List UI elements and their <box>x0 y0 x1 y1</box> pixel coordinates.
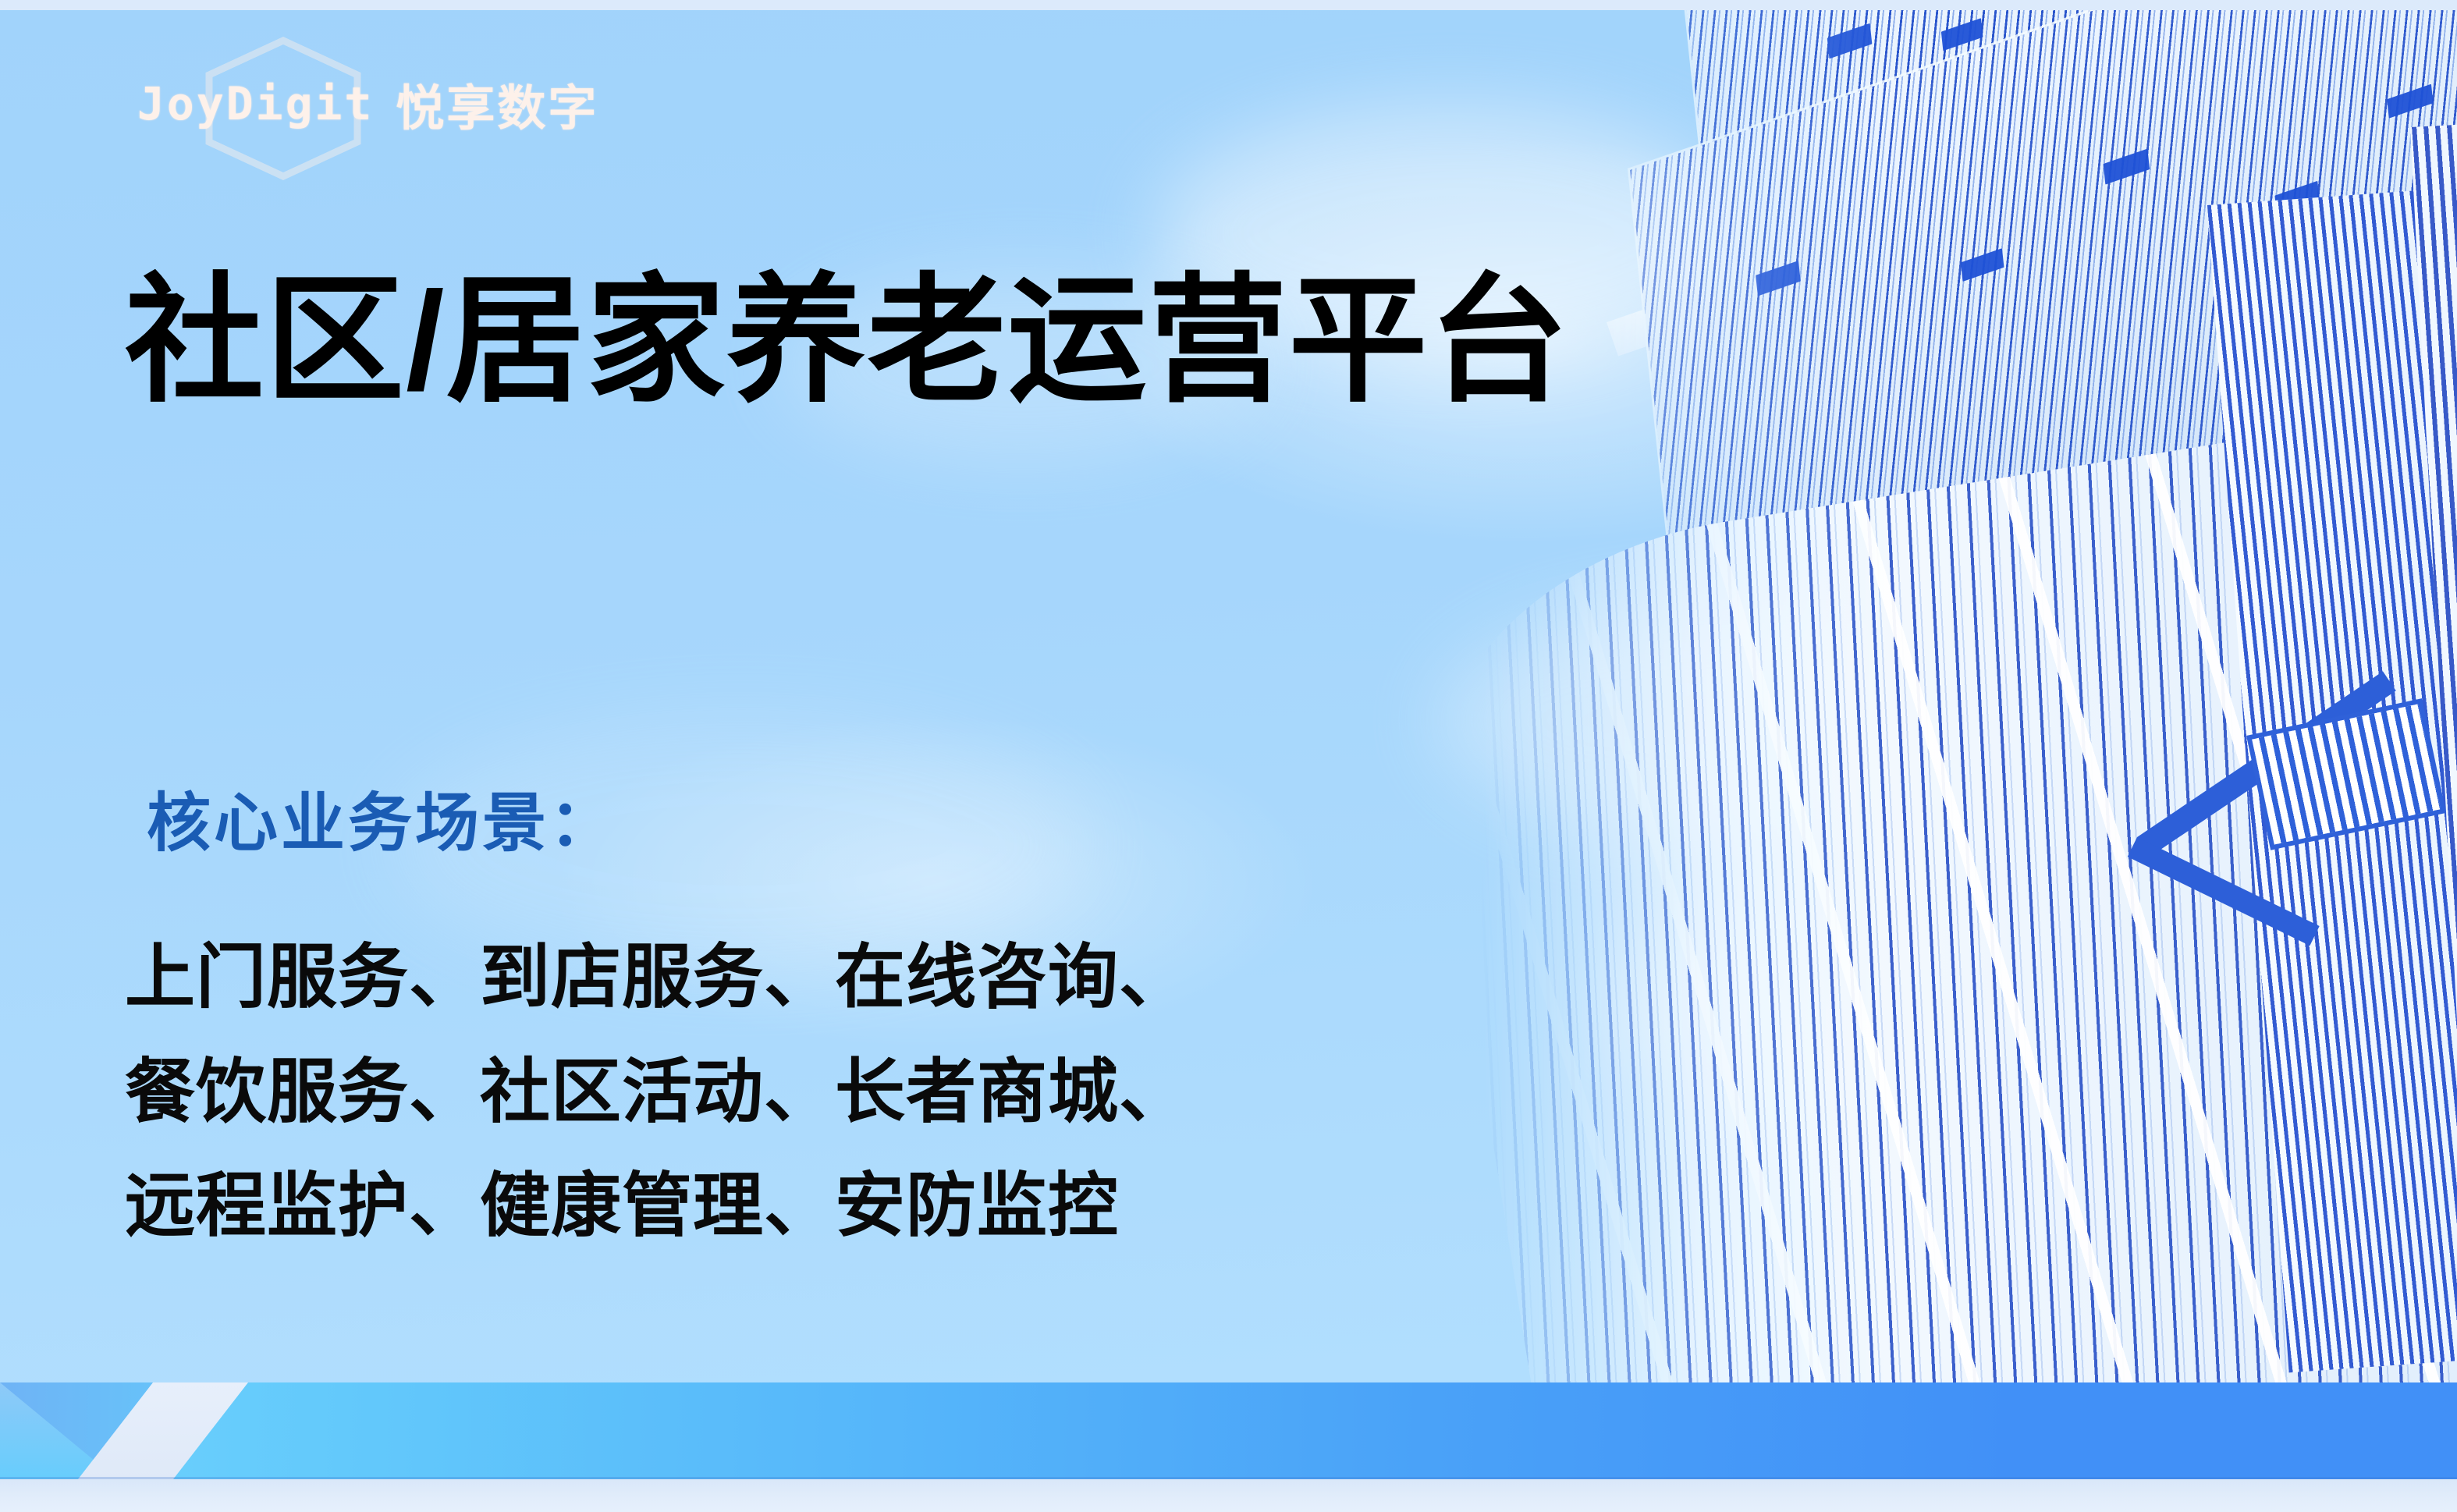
skyscraper-photo <box>1482 10 2457 1383</box>
slide-root: JoyDigit 悦享数字 社区/居家养老运营平台 核心业务场景： 上门服务、到… <box>0 0 2457 1512</box>
footer-decor-band <box>0 1373 2457 1512</box>
band-footer-strip <box>0 1479 2457 1512</box>
band-right-gradient <box>0 1382 2457 1479</box>
scenario-line: 远程监护、健康管理、安防监控 <box>125 1149 1190 1264</box>
page-title: 社区/居家养老运营平台 <box>125 272 1569 410</box>
scenario-text-block: 上门服务、到店服务、在线咨询、 餐饮服务、社区活动、长者商城、 远程监护、健康管… <box>125 921 1190 1264</box>
brand-logo-cn: 悦享数字 <box>396 69 598 139</box>
scenario-line: 上门服务、到店服务、在线咨询、 <box>125 921 1190 1035</box>
scenario-line: 餐饮服务、社区活动、长者商城、 <box>125 1035 1190 1150</box>
section-subtitle: 核心业务场景： <box>147 771 616 864</box>
brand-logo[interactable]: JoyDigit 悦享数字 <box>137 69 598 139</box>
brand-logo-latin: JoyDigit <box>137 77 374 130</box>
top-edge-strip <box>0 0 2457 10</box>
